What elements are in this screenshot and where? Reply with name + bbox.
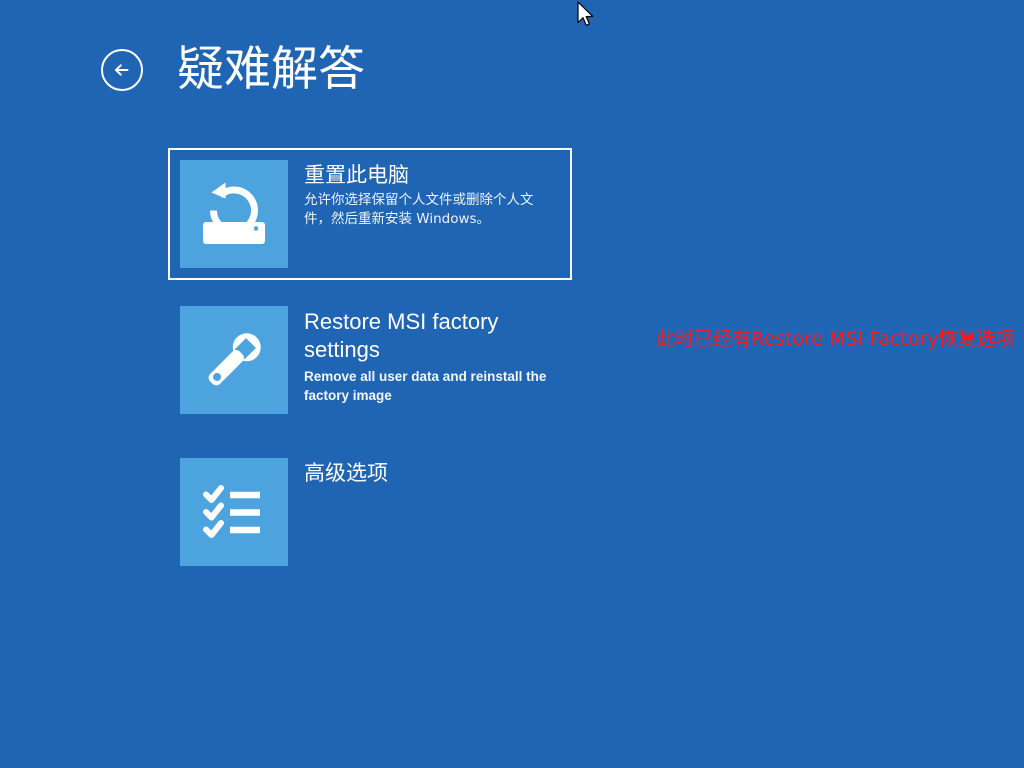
page-title: 疑难解答 [177, 46, 365, 93]
spacer [168, 280, 572, 294]
option-title: 重置此电脑 [304, 162, 560, 188]
recovery-environment-screen: 疑难解答 重置此电脑 允许你选择保留个人文件或删除个人文件，然后重新 [0, 0, 1024, 768]
option-title: Restore MSI factory settings [304, 308, 560, 364]
mouse-pointer-icon [576, 1, 596, 31]
option-advanced-options[interactable]: 高级选项 [168, 446, 572, 578]
troubleshoot-options-list: 重置此电脑 允许你选择保留个人文件或删除个人文件，然后重新安装 Windows。… [168, 148, 572, 578]
option-reset-this-pc[interactable]: 重置此电脑 允许你选择保留个人文件或删除个人文件，然后重新安装 Windows。 [168, 148, 572, 280]
option-text-block: 高级选项 [304, 458, 560, 489]
reset-pc-icon [180, 160, 288, 268]
option-description: 允许你选择保留个人文件或删除个人文件，然后重新安装 Windows。 [304, 191, 560, 229]
option-text-block: 重置此电脑 允许你选择保留个人文件或删除个人文件，然后重新安装 Windows。 [304, 160, 560, 229]
option-text-block: Restore MSI factory settings Remove all … [304, 306, 560, 405]
wrench-icon [180, 306, 288, 414]
annotation-text: 此时已经有Restore MSI Factory恢复选项 [656, 325, 1016, 353]
option-restore-msi-factory-settings[interactable]: Restore MSI factory settings Remove all … [168, 294, 572, 426]
checklist-icon [180, 458, 288, 566]
option-description: Remove all user data and reinstall the f… [304, 367, 560, 405]
page-header: 疑难解答 [100, 46, 365, 93]
back-arrow-circle-icon[interactable] [100, 48, 144, 92]
spacer [168, 426, 572, 446]
option-title: 高级选项 [304, 460, 560, 486]
